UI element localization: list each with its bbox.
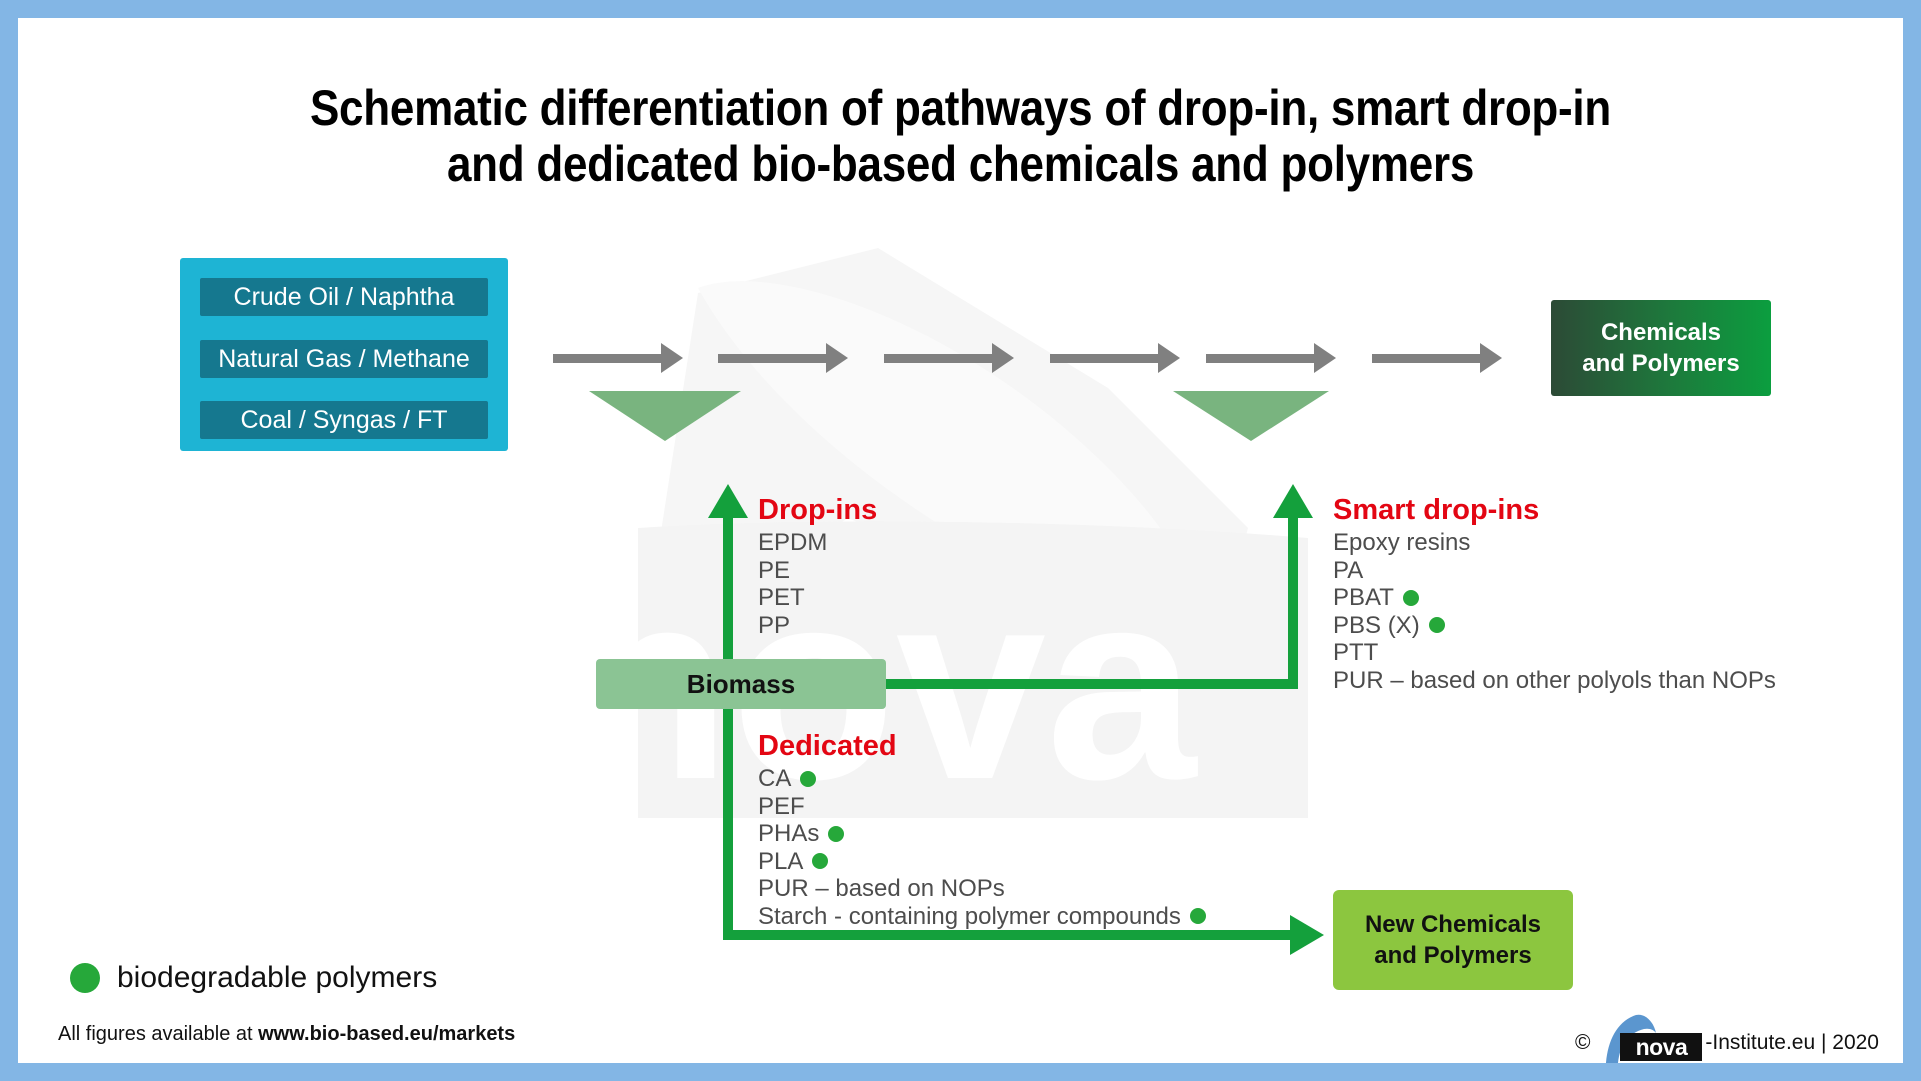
connector-dropins-arrowhead (708, 484, 748, 518)
list-item: Starch - containing polymer compounds (758, 903, 1206, 931)
category-smart-drop-ins: Smart drop-ins Epoxy resins PA PBAT PBS … (1333, 495, 1776, 694)
biodegradable-dot-icon (1403, 590, 1419, 606)
arrow-head (1480, 343, 1502, 373)
chem-box-line-2: and Polymers (1582, 350, 1739, 377)
connector-biomass-to-new-vertical (723, 674, 733, 940)
arrow-shaft (1206, 354, 1314, 363)
footer-copyright: © nova -Institute.eu | 2020 (1575, 1021, 1879, 1063)
footer-prefix: All figures available at (58, 1023, 258, 1045)
legend: biodegradable polymers (70, 961, 437, 995)
process-arrow-1 (553, 343, 683, 373)
connector-smart-arrowhead (1273, 484, 1313, 518)
list-item: PBAT (1333, 584, 1776, 612)
arrow-shaft (1050, 354, 1158, 363)
list-item: CA (758, 765, 1206, 793)
arrow-head (826, 343, 848, 373)
biomass-entry-triangle-left (589, 391, 741, 441)
list-item: PEF (758, 793, 1206, 821)
footer-link[interactable]: www.bio-based.eu/markets (258, 1023, 515, 1045)
process-arrow-4 (1050, 343, 1180, 373)
list-item: PUR – based on NOPs (758, 875, 1206, 903)
list-item: EPDM (758, 529, 877, 557)
polymer-label: PP (758, 612, 790, 640)
list-item: PE (758, 557, 877, 585)
feedstock-item-coal: Coal / Syngas / FT (200, 401, 488, 439)
polymer-label: PET (758, 584, 805, 612)
copyright-symbol: © (1575, 1031, 1590, 1055)
biomass-label: Biomass (687, 669, 795, 700)
polymer-label: CA (758, 765, 791, 793)
nova-logo-text: nova (1620, 1033, 1702, 1061)
polymer-label: PUR – based on NOPs (758, 875, 1005, 903)
polymer-label: Epoxy resins (1333, 529, 1470, 557)
list-item: PLA (758, 848, 1206, 876)
polymer-label: PBAT (1333, 584, 1394, 612)
feedstock-item-crude-oil: Crude Oil / Naphtha (200, 278, 488, 316)
biodegradable-dot-icon (1190, 908, 1206, 924)
polymer-label: PUR – based on other polyols than NOPs (1333, 667, 1776, 695)
polymer-label: PE (758, 557, 790, 585)
fossil-feedstock-box: Crude Oil / Naphtha Natural Gas / Methan… (180, 258, 508, 451)
process-arrow-2 (718, 343, 848, 373)
list-item: PET (758, 584, 877, 612)
newchem-box-line-2: and Polymers (1374, 942, 1531, 969)
polymer-label: Starch - containing polymer compounds (758, 903, 1181, 931)
category-title-dedicated: Dedicated (758, 731, 1206, 762)
arrow-shaft (718, 354, 826, 363)
arrow-shaft (884, 354, 992, 363)
arrow-head (1314, 343, 1336, 373)
arrow-head (661, 343, 683, 373)
process-arrow-5 (1206, 343, 1336, 373)
connector-biomass-to-smart-vertical (1288, 514, 1298, 686)
biodegradable-dot-icon (828, 826, 844, 842)
list-item: PA (1333, 557, 1776, 585)
polymer-label: PEF (758, 793, 805, 821)
list-item: PTT (1333, 639, 1776, 667)
newchem-box-line-1: New Chemicals (1365, 911, 1541, 938)
legend-label: biodegradable polymers (117, 961, 437, 995)
polymer-label: PBS (X) (1333, 612, 1420, 640)
list-item: PBS (X) (1333, 612, 1776, 640)
title-line-1: Schematic differentiation of pathways of… (131, 80, 1790, 136)
figure-title: Schematic differentiation of pathways of… (131, 80, 1790, 192)
polymer-label: EPDM (758, 529, 827, 557)
institute-text: -Institute.eu | 2020 (1705, 1031, 1879, 1055)
list-item: PP (758, 612, 877, 640)
biomass-entry-triangle-right (1173, 391, 1329, 441)
arrow-shaft (1372, 354, 1480, 363)
new-chemicals-and-polymers-box: New Chemicals and Polymers (1333, 890, 1573, 990)
connector-new-chemicals-arrowhead (1290, 915, 1324, 955)
feedstock-item-natural-gas: Natural Gas / Methane (200, 340, 488, 378)
arrow-head (1158, 343, 1180, 373)
footer-source-note: All figures available at www.bio-based.e… (58, 1023, 515, 1046)
figure-canvas: nova Schematic differentiation of pathwa… (18, 18, 1903, 1063)
biodegradable-dot-icon (1429, 617, 1445, 633)
category-dedicated: Dedicated CA PEF PHAs PLA PUR – based on… (758, 731, 1206, 930)
list-item: PUR – based on other polyols than NOPs (1333, 667, 1776, 695)
connector-biomass-to-new-horizontal (723, 930, 1293, 940)
nova-institute-logo: nova (1598, 1021, 1702, 1063)
list-item: PHAs (758, 820, 1206, 848)
chemicals-and-polymers-box: Chemicals and Polymers (1551, 300, 1771, 396)
category-drop-ins: Drop-ins EPDM PE PET PP (758, 495, 877, 639)
biodegradable-dot-icon (800, 771, 816, 787)
legend-dot-icon (70, 963, 100, 993)
polymer-label: PHAs (758, 820, 819, 848)
list-item: Epoxy resins (1333, 529, 1776, 557)
polymer-label: PLA (758, 848, 803, 876)
title-line-2: and dedicated bio-based chemicals and po… (131, 136, 1790, 192)
chem-box-line-1: Chemicals (1601, 319, 1721, 346)
category-title-smart-drop-ins: Smart drop-ins (1333, 495, 1776, 526)
process-arrow-3 (884, 343, 1014, 373)
arrow-head (992, 343, 1014, 373)
process-arrow-6 (1372, 343, 1502, 373)
polymer-label: PA (1333, 557, 1363, 585)
connector-biomass-to-smart-horizontal (878, 679, 1298, 689)
biodegradable-dot-icon (812, 853, 828, 869)
arrow-shaft (553, 354, 661, 363)
biomass-box: Biomass (596, 659, 886, 709)
category-title-drop-ins: Drop-ins (758, 495, 877, 526)
polymer-label: PTT (1333, 639, 1378, 667)
